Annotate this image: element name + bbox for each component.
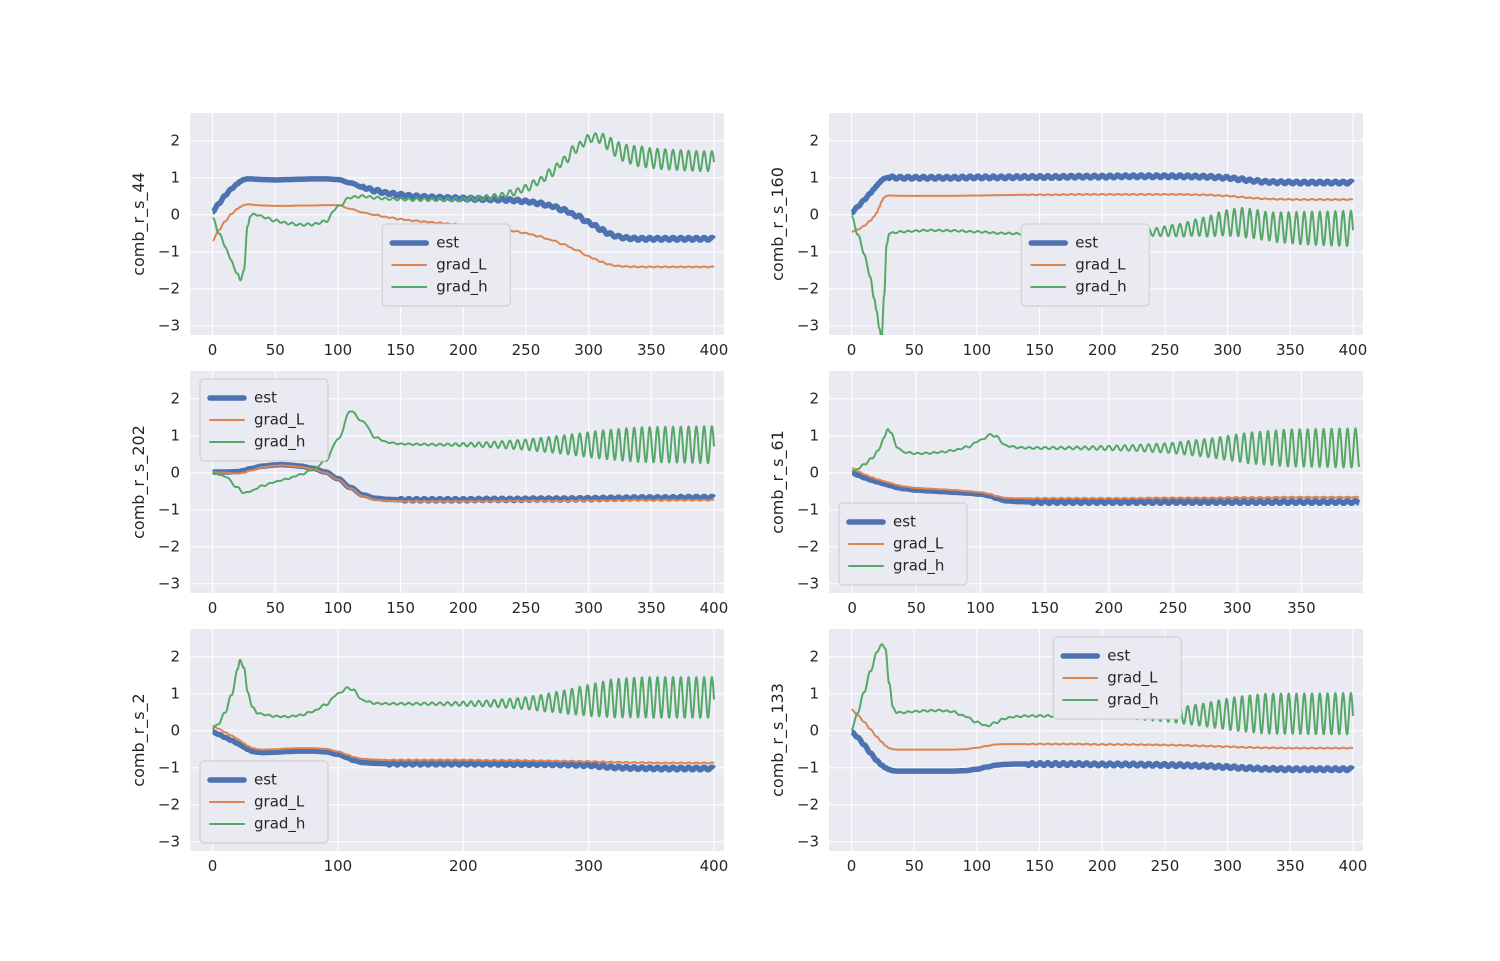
y-tick-label: 0	[809, 721, 819, 739]
x-tick-label: 100	[963, 857, 992, 875]
x-tick-label: 300	[574, 599, 603, 617]
legend-label-est: est	[436, 234, 459, 252]
x-tick-label: 300	[1213, 857, 1242, 875]
y-axis-title: comb_r_s_44	[129, 172, 149, 276]
x-tick-label: 250	[512, 341, 541, 359]
y-tick-label: −2	[797, 795, 819, 813]
x-tick-label: 350	[1276, 857, 1305, 875]
y-tick-label: −1	[797, 758, 819, 776]
x-tick-label: 400	[700, 599, 729, 617]
legend-label-grad_L: grad_L	[1107, 669, 1158, 688]
legend-label-est: est	[254, 389, 277, 407]
y-tick-label: 0	[170, 721, 180, 739]
y-tick-label: 0	[809, 463, 819, 481]
legend-label-grad_L: grad_L	[254, 411, 305, 430]
x-tick-label: 100	[324, 341, 353, 359]
legend-label-est: est	[1075, 234, 1098, 252]
legend-label-est: est	[254, 771, 277, 789]
x-tick-label: 250	[512, 599, 541, 617]
x-tick-label: 100	[966, 599, 995, 617]
figure-canvas: −3−2−1012050100150200250300350400comb_r_…	[0, 0, 1500, 961]
x-tick-label: 250	[1151, 341, 1180, 359]
x-tick-label: 350	[637, 341, 666, 359]
legend-label-grad_h: grad_h	[1107, 691, 1158, 710]
x-tick-label: 400	[700, 341, 729, 359]
y-tick-label: 1	[170, 168, 180, 186]
y-tick-label: 0	[170, 463, 180, 481]
y-axis-title: comb_r_s_61	[768, 430, 788, 534]
y-tick-label: −1	[797, 500, 819, 518]
subplot-comb_r_s_2: −3−2−10120100200300400comb_r_s_2estgrad_…	[130, 629, 724, 897]
y-tick-label: −3	[158, 832, 180, 850]
x-tick-label: 300	[1223, 599, 1252, 617]
x-tick-label: 50	[905, 857, 924, 875]
x-tick-label: 400	[1339, 341, 1368, 359]
subplot-comb_r_s_44: −3−2−1012050100150200250300350400comb_r_…	[130, 113, 724, 381]
x-tick-label: 0	[847, 599, 857, 617]
x-tick-label: 0	[847, 857, 857, 875]
y-tick-label: 1	[170, 684, 180, 702]
x-tick-label: 200	[449, 599, 478, 617]
legend-label-grad_h: grad_h	[1075, 278, 1126, 297]
x-tick-label: 50	[907, 599, 926, 617]
x-tick-label: 0	[208, 599, 218, 617]
legend-label-grad_h: grad_h	[254, 433, 305, 452]
x-tick-label: 50	[266, 599, 285, 617]
y-tick-label: −1	[797, 242, 819, 260]
legend[interactable]: estgrad_Lgrad_h	[200, 761, 328, 843]
y-tick-label: 1	[809, 168, 819, 186]
y-axis-title: comb_r_s_2	[129, 693, 149, 786]
x-tick-label: 200	[1088, 857, 1117, 875]
y-tick-label: −2	[158, 537, 180, 555]
y-tick-label: 2	[170, 131, 180, 149]
y-tick-label: 1	[809, 684, 819, 702]
subplot-comb_r_s_61: −3−2−1012050100150200250300350comb_r_s_6…	[769, 371, 1363, 639]
legend-label-grad_L: grad_L	[1075, 256, 1126, 275]
subplot-comb_r_s_202: −3−2−1012050100150200250300350400comb_r_…	[130, 371, 724, 639]
y-tick-label: −3	[797, 832, 819, 850]
x-tick-label: 200	[449, 341, 478, 359]
y-tick-label: −2	[797, 537, 819, 555]
legend-label-est: est	[1107, 647, 1130, 665]
legend-label-grad_L: grad_L	[254, 793, 305, 812]
x-tick-label: 200	[1095, 599, 1124, 617]
y-tick-label: −1	[158, 500, 180, 518]
x-tick-label: 250	[1159, 599, 1188, 617]
x-tick-label: 150	[386, 599, 415, 617]
y-tick-label: −1	[158, 242, 180, 260]
y-tick-label: −2	[797, 279, 819, 297]
y-tick-label: −3	[158, 316, 180, 334]
y-tick-label: −3	[797, 316, 819, 334]
y-tick-label: 2	[170, 647, 180, 665]
x-tick-label: 100	[324, 857, 353, 875]
x-tick-label: 150	[1030, 599, 1059, 617]
legend-label-grad_h: grad_h	[436, 278, 487, 297]
x-tick-label: 300	[574, 857, 603, 875]
subplot-comb_r_s_133: −3−2−1012050100150200250300350400comb_r_…	[769, 629, 1363, 897]
y-axis-title: comb_r_s_133	[768, 683, 788, 797]
x-tick-label: 200	[449, 857, 478, 875]
x-tick-label: 0	[208, 857, 218, 875]
x-tick-label: 400	[700, 857, 729, 875]
y-tick-label: −1	[158, 758, 180, 776]
legend-label-grad_h: grad_h	[254, 815, 305, 834]
x-tick-label: 300	[574, 341, 603, 359]
x-tick-label: 350	[1276, 341, 1305, 359]
y-tick-label: 2	[809, 647, 819, 665]
subplot-comb_r_s_160: −3−2−1012050100150200250300350400comb_r_…	[769, 113, 1363, 381]
x-tick-label: 400	[1339, 857, 1368, 875]
x-tick-label: 350	[637, 599, 666, 617]
y-tick-label: 2	[170, 389, 180, 407]
legend-label-est: est	[893, 513, 916, 531]
x-tick-label: 200	[1088, 341, 1117, 359]
x-tick-label: 100	[963, 341, 992, 359]
x-tick-label: 150	[386, 341, 415, 359]
x-tick-label: 0	[208, 341, 218, 359]
x-tick-label: 50	[266, 341, 285, 359]
legend[interactable]: estgrad_Lgrad_h	[382, 224, 510, 306]
legend-label-grad_h: grad_h	[893, 557, 944, 576]
y-tick-label: −3	[158, 574, 180, 592]
x-tick-label: 100	[324, 599, 353, 617]
legend[interactable]: estgrad_Lgrad_h	[200, 379, 328, 461]
legend[interactable]: estgrad_Lgrad_h	[839, 503, 967, 585]
y-tick-label: 2	[809, 389, 819, 407]
y-tick-label: −2	[158, 279, 180, 297]
y-tick-label: 0	[170, 205, 180, 223]
x-tick-label: 300	[1213, 341, 1242, 359]
x-tick-label: 50	[905, 341, 924, 359]
legend[interactable]: estgrad_Lgrad_h	[1053, 637, 1181, 719]
y-axis-title: comb_r_s_202	[129, 425, 149, 539]
y-tick-label: 0	[809, 205, 819, 223]
x-tick-label: 250	[1151, 857, 1180, 875]
y-tick-label: −3	[797, 574, 819, 592]
y-tick-label: −2	[158, 795, 180, 813]
x-tick-label: 350	[1287, 599, 1316, 617]
y-tick-label: 1	[170, 426, 180, 444]
x-tick-label: 0	[847, 341, 857, 359]
y-tick-label: 2	[809, 131, 819, 149]
legend[interactable]: estgrad_Lgrad_h	[1021, 224, 1149, 306]
legend-label-grad_L: grad_L	[893, 535, 944, 554]
legend-label-grad_L: grad_L	[436, 256, 487, 275]
x-tick-label: 150	[1025, 341, 1054, 359]
y-tick-label: 1	[809, 426, 819, 444]
x-tick-label: 150	[1025, 857, 1054, 875]
y-axis-title: comb_r_s_160	[768, 167, 788, 281]
